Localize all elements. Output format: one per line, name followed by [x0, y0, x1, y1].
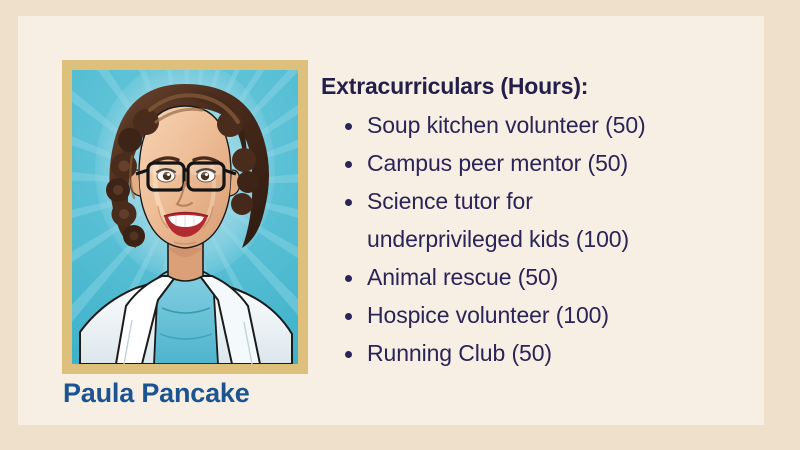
extracurriculars-section: Extracurriculars (Hours): Soup kitchen v… — [321, 73, 751, 372]
list-item: Animal rescue (50) — [343, 258, 751, 296]
list-item: Science tutor for underprivileged kids (… — [343, 182, 673, 258]
portrait-figure-icon — [72, 70, 298, 364]
list-item: Campus peer mentor (50) — [343, 144, 751, 182]
list-item: Hospice volunteer (100) — [343, 296, 751, 334]
portrait-frame — [62, 60, 308, 374]
slide-panel: Paula Pancake Extracurriculars (Hours): … — [18, 16, 764, 425]
list-item: Running Club (50) — [343, 334, 751, 372]
portrait-image — [72, 70, 298, 364]
slide: Paula Pancake Extracurriculars (Hours): … — [0, 0, 800, 450]
portrait-name-caption: Paula Pancake — [63, 378, 323, 409]
list-item: Soup kitchen volunteer (50) — [343, 106, 751, 144]
extracurriculars-list: Soup kitchen volunteer (50) Campus peer … — [321, 106, 751, 372]
section-heading: Extracurriculars (Hours): — [321, 73, 751, 100]
